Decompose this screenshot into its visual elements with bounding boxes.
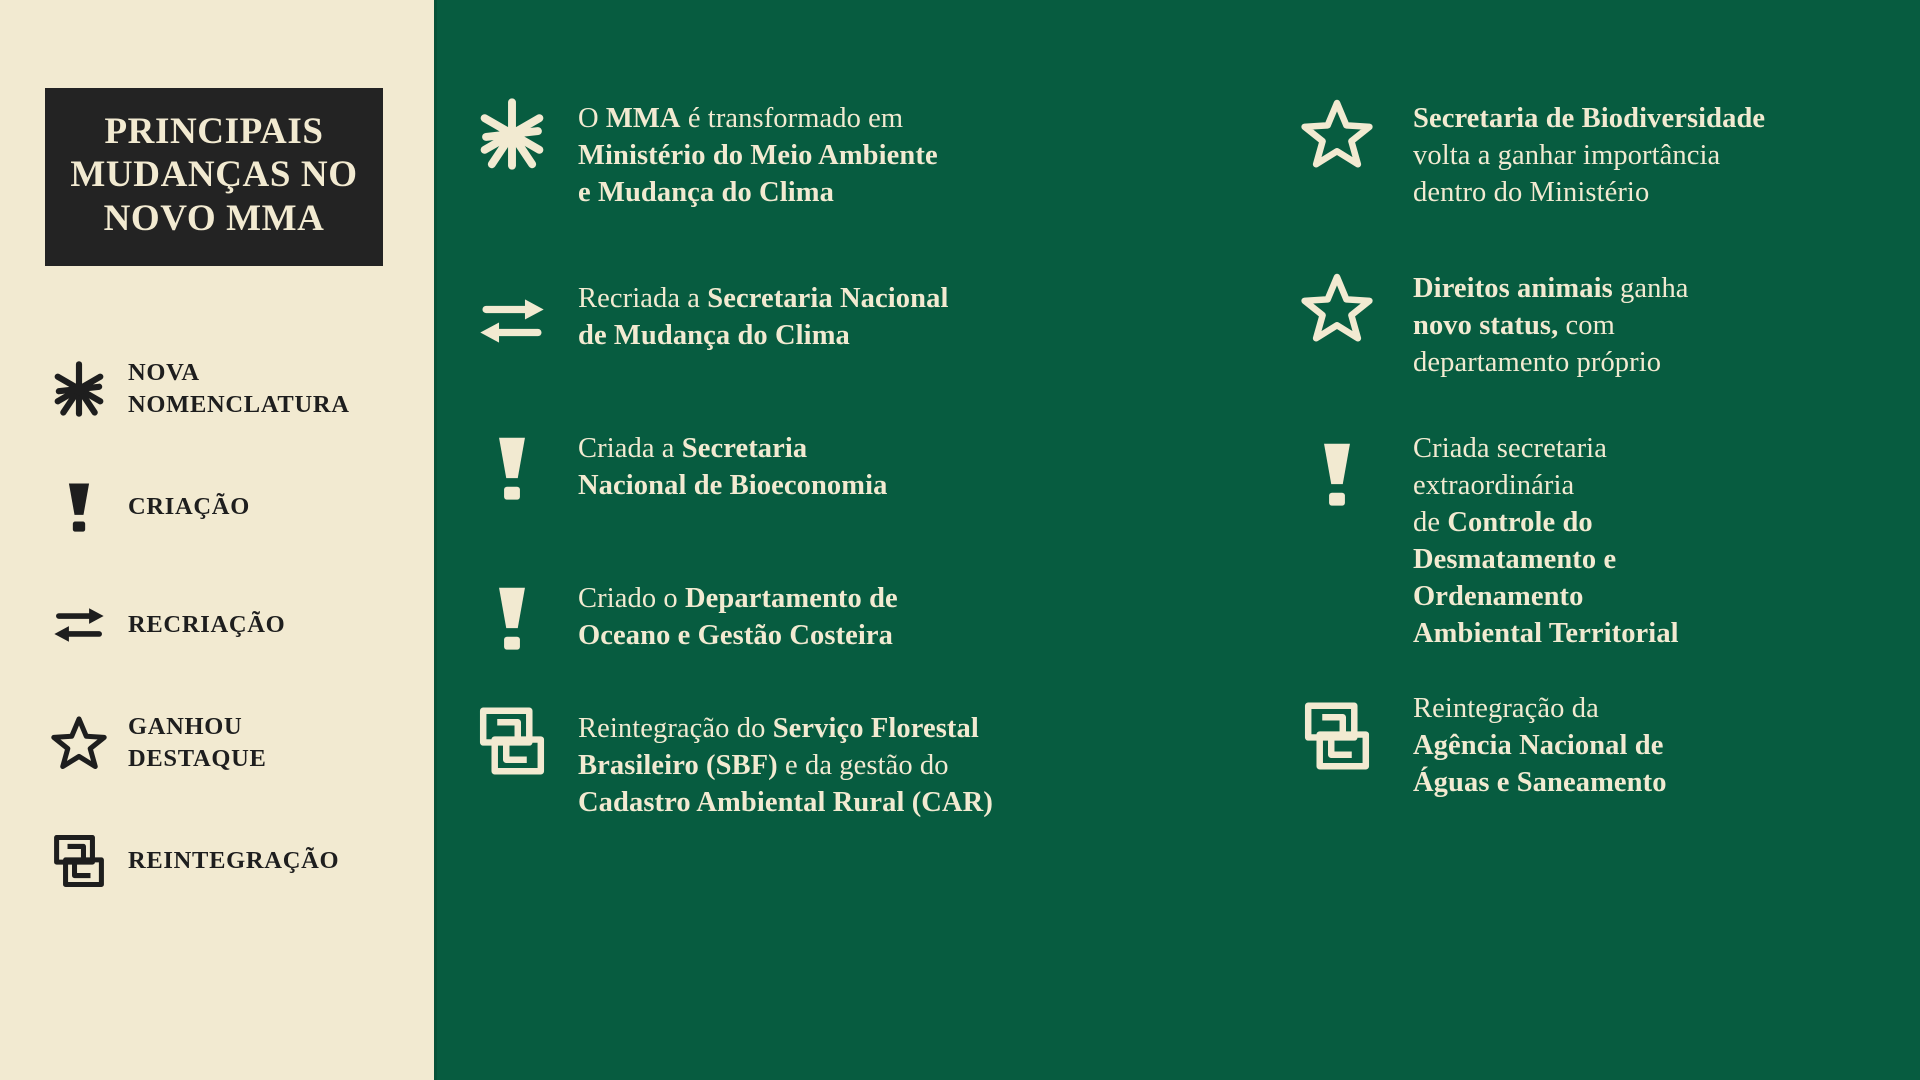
text-regular: dentro do Ministério bbox=[1413, 177, 1649, 208]
text-strong: Secretaria de Biodiversidade bbox=[1413, 103, 1765, 134]
text-strong: Nacional de Bioeconomia bbox=[578, 470, 887, 501]
text-strong: Departamento de bbox=[685, 583, 898, 614]
entry-line: Oceano e Gestão Costeira bbox=[578, 617, 898, 654]
text-strong: Serviço Florestal bbox=[773, 713, 979, 744]
legend-item-0: NOVA NOMENCLATURA bbox=[0, 330, 434, 448]
text-strong: Secretaria Nacional bbox=[707, 283, 948, 314]
entry-line: Ministério do Meio Ambiente bbox=[578, 137, 938, 174]
entry-line: Ambiental Territorial bbox=[1413, 615, 1679, 652]
text-regular: Criada a bbox=[578, 433, 682, 464]
entry-line: volta a ganhar importância bbox=[1413, 137, 1765, 174]
entry-line: dentro do Ministério bbox=[1413, 174, 1765, 211]
text-strong: Controle do bbox=[1447, 507, 1592, 538]
asterisk-icon bbox=[476, 98, 548, 170]
entry-text: Direitos animais ganhanovo status, comde… bbox=[1413, 270, 1689, 381]
text-strong: Ordenamento bbox=[1413, 581, 1584, 612]
entry-line: novo status, com bbox=[1413, 307, 1689, 344]
text-strong: Ambiental Territorial bbox=[1413, 618, 1679, 649]
legend-item-label: CRIAÇÃO bbox=[116, 491, 250, 523]
entry-line: Reintegração da bbox=[1413, 690, 1667, 727]
legend-item-1: CRIAÇÃO bbox=[0, 448, 434, 566]
text-regular: Recriada a bbox=[578, 283, 707, 314]
text-strong: MMA bbox=[606, 103, 681, 134]
text-strong: novo status, bbox=[1413, 310, 1558, 341]
legend-item-2: RECRIAÇÃO bbox=[0, 566, 434, 684]
text-strong: de Mudança do Clima bbox=[578, 320, 850, 351]
text-regular: volta a ganhar importância bbox=[1413, 140, 1720, 171]
star-icon bbox=[1301, 272, 1373, 344]
entry-line: Criada secretaria bbox=[1413, 430, 1679, 467]
entry-line: Desmatamento e bbox=[1413, 541, 1679, 578]
infographic-root: PRINCIPAIS MUDANÇAS NO NOVO MMA NOVA NOM… bbox=[0, 0, 1920, 1080]
entry-line: Agência Nacional de bbox=[1413, 727, 1667, 764]
entry-line: e Mudança do Clima bbox=[578, 174, 938, 211]
entry-line: Recriada a Secretaria Nacional bbox=[578, 280, 948, 317]
entry-line: Criado o Departamento de bbox=[578, 580, 898, 617]
text-regular: ganha bbox=[1613, 273, 1689, 304]
reintegration-icon bbox=[42, 824, 116, 898]
text-regular: Reintegração da bbox=[1413, 693, 1599, 724]
entry-line: O MMA é transformado em bbox=[578, 100, 938, 137]
two-arrows-icon bbox=[476, 285, 548, 357]
text-strong: Oceano e Gestão Costeira bbox=[578, 620, 893, 651]
content-panel: O MMA é transformado emMinistério do Mei… bbox=[434, 0, 1920, 1080]
entry-line: Águas e Saneamento bbox=[1413, 764, 1667, 801]
asterisk-icon bbox=[42, 352, 116, 426]
star-icon bbox=[1301, 98, 1373, 170]
text-strong: Águas e Saneamento bbox=[1413, 767, 1667, 798]
exclamation-icon bbox=[1301, 438, 1373, 510]
text-strong: Ministério do Meio Ambiente bbox=[578, 140, 938, 171]
legend-item-4: REINTEGRAÇÃO bbox=[0, 802, 434, 920]
exclamation-icon bbox=[476, 582, 548, 654]
entry-line: Ordenamento bbox=[1413, 578, 1679, 615]
legend-item-3: GANHOU DESTAQUE bbox=[0, 684, 434, 802]
entry-text: Criado o Departamento deOceano e Gestão … bbox=[578, 580, 898, 654]
text-regular: de bbox=[1413, 507, 1447, 538]
entry-text: Criada secretariaextraordináriade Contro… bbox=[1413, 430, 1679, 652]
entry-line: Brasileiro (SBF) e da gestão do bbox=[578, 747, 993, 784]
text-strong: Cadastro Ambiental Rural (CAR) bbox=[578, 787, 993, 818]
entry-line: Secretaria de Biodiversidade bbox=[1413, 100, 1765, 137]
text-regular: com bbox=[1558, 310, 1615, 341]
text-strong: e Mudança do Clima bbox=[578, 177, 834, 208]
legend-item-label: RECRIAÇÃO bbox=[116, 609, 285, 641]
text-regular: e da gestão do bbox=[778, 750, 949, 781]
two-arrows-icon bbox=[42, 588, 116, 662]
entry-line: extraordinária bbox=[1413, 467, 1679, 504]
entry-text: Reintegração daAgência Nacional deÁguas … bbox=[1413, 690, 1667, 801]
text-strong: Secretaria bbox=[682, 433, 808, 464]
sidebar: PRINCIPAIS MUDANÇAS NO NOVO MMA NOVA NOM… bbox=[0, 0, 434, 1080]
entry-line: Direitos animais ganha bbox=[1413, 270, 1689, 307]
entry-text: Reintegração do Serviço FlorestalBrasile… bbox=[578, 710, 993, 821]
right-column: Secretaria de Biodiversidadevolta a ganh… bbox=[1289, 0, 1920, 1080]
legend-item-label: NOVA NOMENCLATURA bbox=[116, 357, 350, 422]
text-regular: é transformado em bbox=[681, 103, 904, 134]
text-regular: O bbox=[578, 103, 606, 134]
reintegration-icon bbox=[1301, 700, 1373, 772]
entry-text: O MMA é transformado emMinistério do Mei… bbox=[578, 100, 938, 211]
star-icon bbox=[42, 706, 116, 780]
exclamation-icon bbox=[476, 432, 548, 504]
exclamation-icon bbox=[42, 470, 116, 544]
legend-item-label: REINTEGRAÇÃO bbox=[116, 845, 339, 877]
text-strong: Brasileiro (SBF) bbox=[578, 750, 778, 781]
left-column: O MMA é transformado emMinistério do Mei… bbox=[434, 0, 1289, 1080]
entry-line: de Mudança do Clima bbox=[578, 317, 948, 354]
entry-line: Nacional de Bioeconomia bbox=[578, 467, 887, 504]
text-regular: Criado o bbox=[578, 583, 685, 614]
page-title: PRINCIPAIS MUDANÇAS NO NOVO MMA bbox=[55, 110, 373, 240]
entry-text: Criada a SecretariaNacional de Bioeconom… bbox=[578, 430, 887, 504]
text-regular: Reintegração do bbox=[578, 713, 773, 744]
entry-line: departamento próprio bbox=[1413, 344, 1689, 381]
title-box: PRINCIPAIS MUDANÇAS NO NOVO MMA bbox=[45, 88, 383, 266]
text-strong: Agência Nacional de bbox=[1413, 730, 1663, 761]
text-strong: Direitos animais bbox=[1413, 273, 1613, 304]
text-strong: Desmatamento e bbox=[1413, 544, 1616, 575]
text-regular: extraordinária bbox=[1413, 470, 1574, 501]
text-regular: departamento próprio bbox=[1413, 347, 1661, 378]
legend: NOVA NOMENCLATURACRIAÇÃORECRIAÇÃOGANHOU … bbox=[0, 330, 434, 920]
text-regular: Criada secretaria bbox=[1413, 433, 1607, 464]
entry-line: Cadastro Ambiental Rural (CAR) bbox=[578, 784, 993, 821]
entry-line: Criada a Secretaria bbox=[578, 430, 887, 467]
entry-line: de Controle do bbox=[1413, 504, 1679, 541]
entry-text: Recriada a Secretaria Nacionalde Mudança… bbox=[578, 280, 948, 354]
entry-text: Secretaria de Biodiversidadevolta a ganh… bbox=[1413, 100, 1765, 211]
entry-line: Reintegração do Serviço Florestal bbox=[578, 710, 993, 747]
reintegration-icon bbox=[476, 705, 548, 777]
legend-item-label: GANHOU DESTAQUE bbox=[116, 711, 267, 776]
